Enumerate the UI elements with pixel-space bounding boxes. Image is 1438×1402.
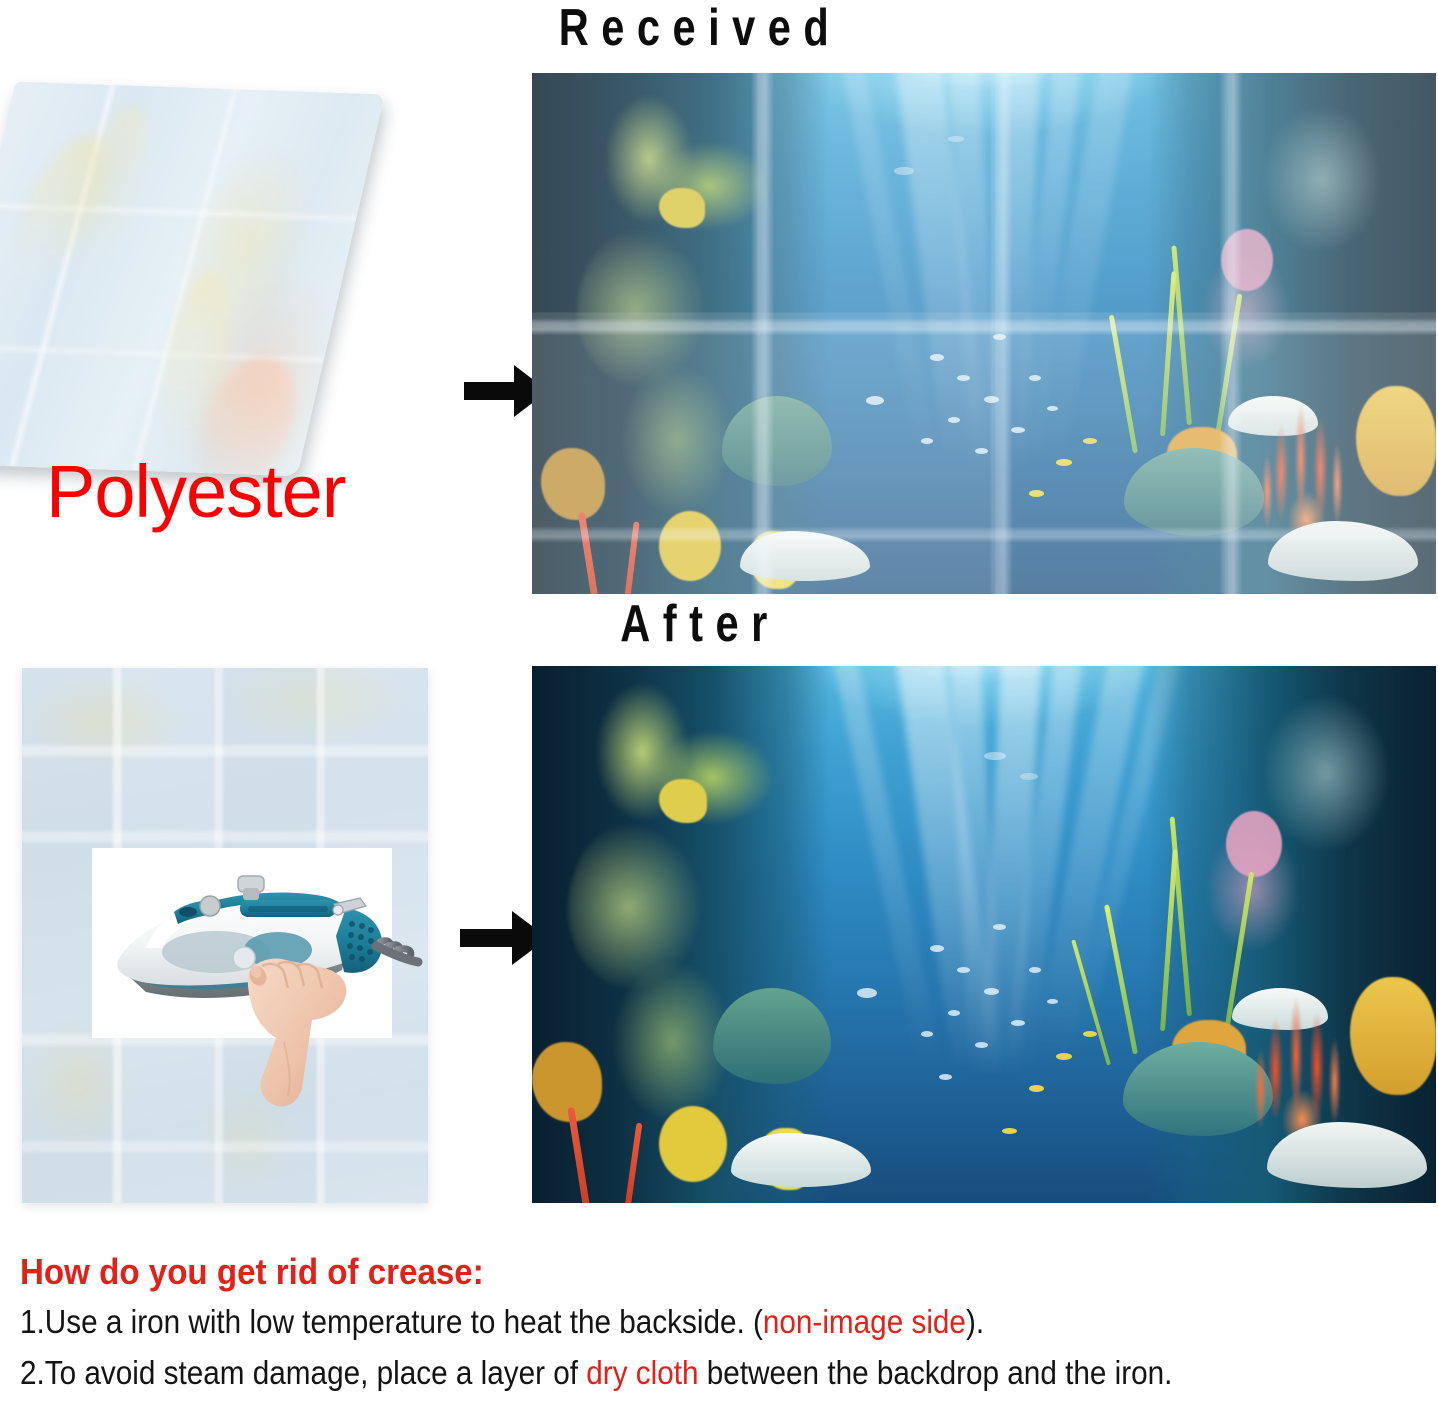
fish [921, 438, 933, 444]
fish [975, 1042, 988, 1048]
section-title-received: Received [476, 2, 924, 54]
received-backdrop-photo [532, 73, 1436, 594]
fish [957, 967, 970, 973]
instruction-2-prefix: 2.To avoid steam damage, place a layer o… [20, 1354, 586, 1391]
yellow-fan-coral [1356, 386, 1436, 496]
fish [948, 136, 964, 142]
yellow-coral [659, 1106, 727, 1182]
yellow-fish [1056, 459, 1072, 466]
instruction-1-suffix: ). [966, 1303, 984, 1340]
algae-patch [577, 229, 707, 389]
instructions-heading: How do you get rid of crease: [20, 1252, 1317, 1292]
after-backdrop-photo [532, 666, 1436, 1203]
fish [993, 924, 1006, 930]
pink-coral [1226, 811, 1282, 877]
hand-icon [247, 958, 347, 1106]
fish [894, 167, 914, 175]
instructions-block: How do you get rid of crease: 1.Use a ir… [20, 1252, 1430, 1394]
yellow-coral [659, 188, 705, 228]
section-title-after: After [516, 598, 884, 650]
instruction-line-2: 2.To avoid steam damage, place a layer o… [20, 1353, 1289, 1394]
material-label-polyester: Polyester [46, 455, 345, 529]
yellow-coral [659, 511, 721, 581]
fish [921, 1031, 933, 1037]
yellow-fish [1056, 1053, 1072, 1060]
folded-fabric-icon [0, 82, 385, 477]
fish [993, 334, 1006, 340]
yellow-fish [1029, 1085, 1044, 1092]
yellow-fish [1029, 490, 1044, 497]
instruction-2-suffix: between the backdrop and the iron. [699, 1354, 1173, 1391]
steam-iron-icon [92, 848, 392, 1038]
yellow-fish [1002, 1128, 1017, 1134]
algae-patch [622, 365, 732, 515]
instruction-line-1: 1.Use a iron with low temperature to hea… [20, 1302, 1289, 1343]
fish [1029, 967, 1041, 973]
fish [948, 417, 960, 423]
instruction-1-prefix: 1.Use a iron with low temperature to hea… [20, 1303, 763, 1340]
fish [939, 1074, 952, 1080]
fish [984, 396, 999, 403]
fish [948, 1010, 960, 1016]
instruction-1-highlight: non-image side [763, 1303, 966, 1340]
coral-texture [1261, 693, 1391, 853]
fish [984, 752, 1006, 760]
infographic-root: Received Polyester [0, 0, 1438, 1402]
yellow-fish [1083, 438, 1097, 444]
fabric-print-wisp [91, 107, 155, 189]
coral-texture [1262, 104, 1382, 254]
instruction-2-highlight: dry cloth [586, 1354, 698, 1391]
